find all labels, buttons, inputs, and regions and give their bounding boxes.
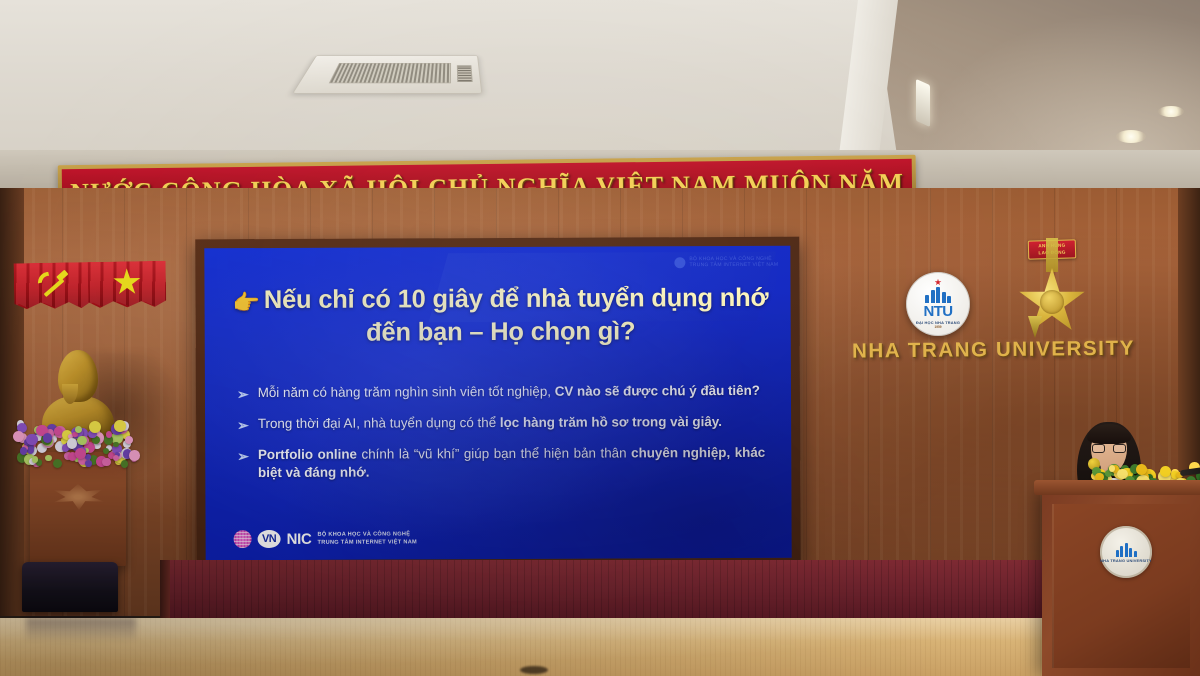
vnnic-watermark: BỘ KHOA HỌC VÀ CÔNG NGHỆ TRUNG TÂM INTER… [674,256,778,269]
yellow-star-icon [113,268,141,296]
podium-emblem-subtitle: NHA TRANG UNIVERSITY [1100,558,1152,563]
slide-title: 👉Nếu chỉ có 10 giây để nhà tuyển dụng nh… [232,282,768,350]
flower-blossom [32,456,38,462]
ntu-wall-logo: NTU ĐẠI HỌC NHA TRANG 1959 [906,272,970,336]
slide-title-text: Nếu chỉ có 10 giây để nhà tuyển dụng nhớ… [264,284,769,347]
pedestal-base-block [22,562,118,612]
pedestal-lotus-emblem [52,484,104,510]
flower-blossom [102,458,110,466]
flower-blossom [85,454,91,460]
flower-blossom [113,455,119,461]
slide-bullet: ➢Mỗi năm có hàng trăm nghìn sinh viên tố… [237,382,765,404]
bullet-marker-icon: ➢ [237,416,249,435]
watermark-line-2: TRUNG TÂM INTERNET VIỆT NAM [689,262,778,268]
hammer-sickle-icon [36,268,71,299]
slide-bullet: ➢Portfolio online chính là “vũ khí” giúp… [237,444,765,483]
watermark-globe-icon [674,257,685,268]
communist-party-flag [14,262,93,309]
podium-front-face: NHA TRANG UNIVERSITY [1052,504,1190,668]
globe-icon [234,530,252,548]
nic-wordmark: NIC [287,530,312,547]
flower-blossom [114,420,126,432]
flower-blossom [43,433,52,442]
slide-bullet: ➢Trong thời đại AI, nhà tuyển dụng có th… [237,413,765,435]
gold-star-medal [1018,268,1086,336]
logo-line-1: BỘ KHOA HỌC VÀ CÔNG NGHỆ [317,531,410,537]
ceiling-downlight [1116,130,1146,143]
flower-blossom [45,455,51,461]
stage-floor [0,618,1200,676]
flower-blossom [121,460,129,468]
wall-left-shadow-edge [0,188,24,616]
ntu-initials: NTU [923,304,952,319]
air-conditioner-unit [292,55,483,93]
logo-line-2: TRUNG TÂM INTERNET VIỆT NAM [318,539,417,545]
ceiling-downlight [1158,106,1184,117]
vn-badge: VN [258,530,281,548]
flower-blossom [85,460,91,466]
medal-center-medallion [1040,290,1064,314]
flower-blossom [67,438,77,448]
bullet-marker-icon: ➢ [237,447,249,466]
podium-building-icon [1116,541,1137,557]
bullet-text: Portfolio online chính là “vũ khí” giúp … [258,444,765,483]
floor-reflection [26,618,136,642]
eyeglasses-icon [1092,444,1126,453]
vietnam-national-flag [88,261,167,308]
flower-blossom [113,442,118,447]
slide-bullet-list: ➢Mỗi năm có hàng trăm nghìn sinh viên tố… [237,382,765,483]
ntu-building-icon [925,287,951,303]
projection-screen-frame: BỘ KHOA HỌC VÀ CÔNG NGHỆ TRUNG TÂM INTER… [195,237,800,570]
pointing-hand-icon: 👉 [233,290,260,315]
ac-vent-slot [456,65,472,82]
flower-blossom [26,434,37,445]
vnnic-slide-logo: VN NIC BỘ KHOA HỌC VÀ CÔNG NGHỆ TRUNG TÂ… [234,529,417,548]
flower-blossom [13,431,24,442]
flower-blossom [1160,466,1171,477]
flower-blossom [77,436,86,445]
bullet-text: Trong thời đại AI, nhà tuyển dụng có thể… [258,413,722,434]
floor-debris [520,666,548,674]
projection-screen: BỘ KHOA HỌC VÀ CÔNG NGHỆ TRUNG TÂM INTER… [204,246,791,561]
flower-blossom [129,450,140,461]
red-star-icon [935,279,942,286]
bust-flower-arrangement [12,420,140,468]
track-light-fixture [916,79,930,127]
podium-top-ledge [1034,480,1200,495]
flower-blossom [75,426,82,433]
podium: NHA TRANG UNIVERSITY [1042,490,1200,676]
stage-backdrop-panel-edge [160,560,170,622]
flower-blossom [53,459,62,468]
flower-blossom [27,446,34,453]
ntu-year: 1959 [934,325,941,329]
university-wall-lettering: NHA TRANG UNIVERSITY [852,336,1152,363]
ac-grille [329,63,452,83]
bullet-marker-icon: ➢ [237,385,249,404]
flag-pair [14,261,171,312]
flower-blossom [103,448,109,454]
medal-ribbon [1046,238,1058,272]
podium-ntu-emblem: NHA TRANG UNIVERSITY [1100,526,1152,578]
conference-hall-photo: NƯỚC CỘNG HÒA XÃ HỘI CHỦ NGHĨA VIỆT NAM … [0,0,1200,676]
bullet-text: Mỗi năm có hàng trăm nghìn sinh viên tốt… [258,382,760,403]
flower-blossom [125,436,133,444]
